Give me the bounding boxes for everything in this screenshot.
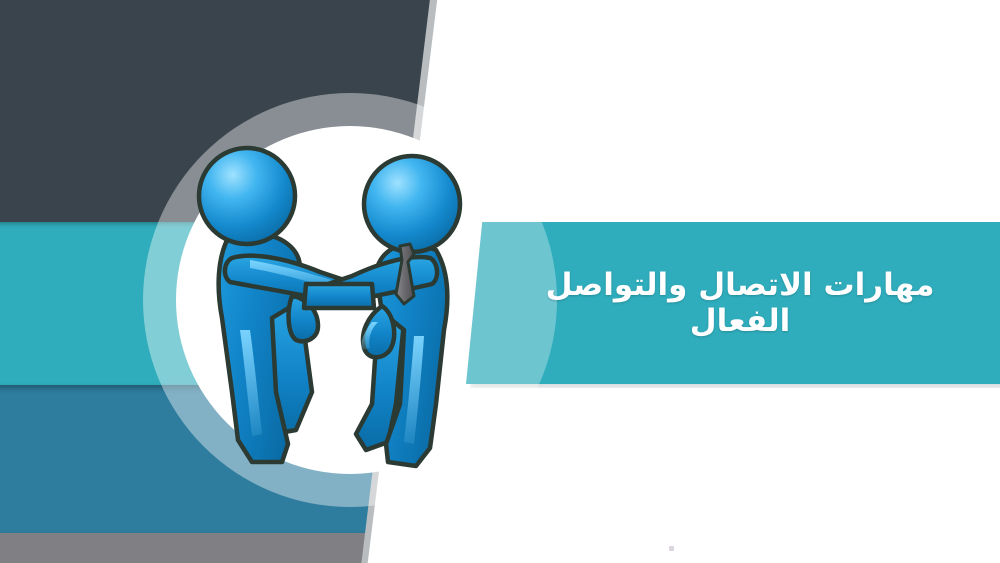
paper-artifact [669,546,674,551]
figure-right [306,156,460,466]
handshake-illustration [0,0,1000,563]
figure-right-head [364,156,460,252]
figure-left-head [199,148,295,244]
title-slide: مهارات الاتصال والتواصل الفعال [0,0,1000,563]
clasped-hands [304,284,374,308]
